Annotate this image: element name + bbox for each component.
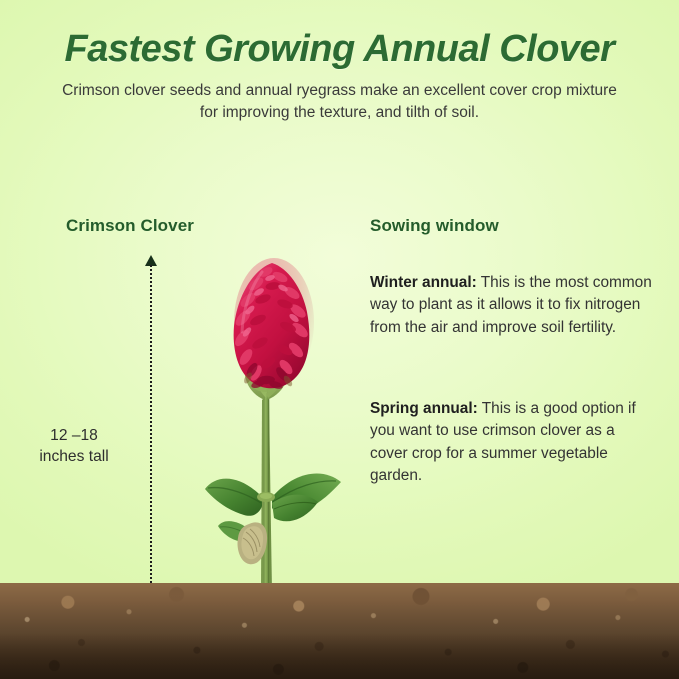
crimson-clover-plant-illustration bbox=[0, 0, 679, 679]
plant-stem bbox=[261, 365, 272, 596]
plant-leaves bbox=[205, 473, 341, 564]
infographic-canvas: Fastest Growing Annual Clover Crimson cl… bbox=[0, 0, 679, 679]
soil-shadow bbox=[0, 633, 679, 679]
soil-layer bbox=[0, 583, 679, 679]
crimson-flower-head bbox=[232, 258, 314, 390]
